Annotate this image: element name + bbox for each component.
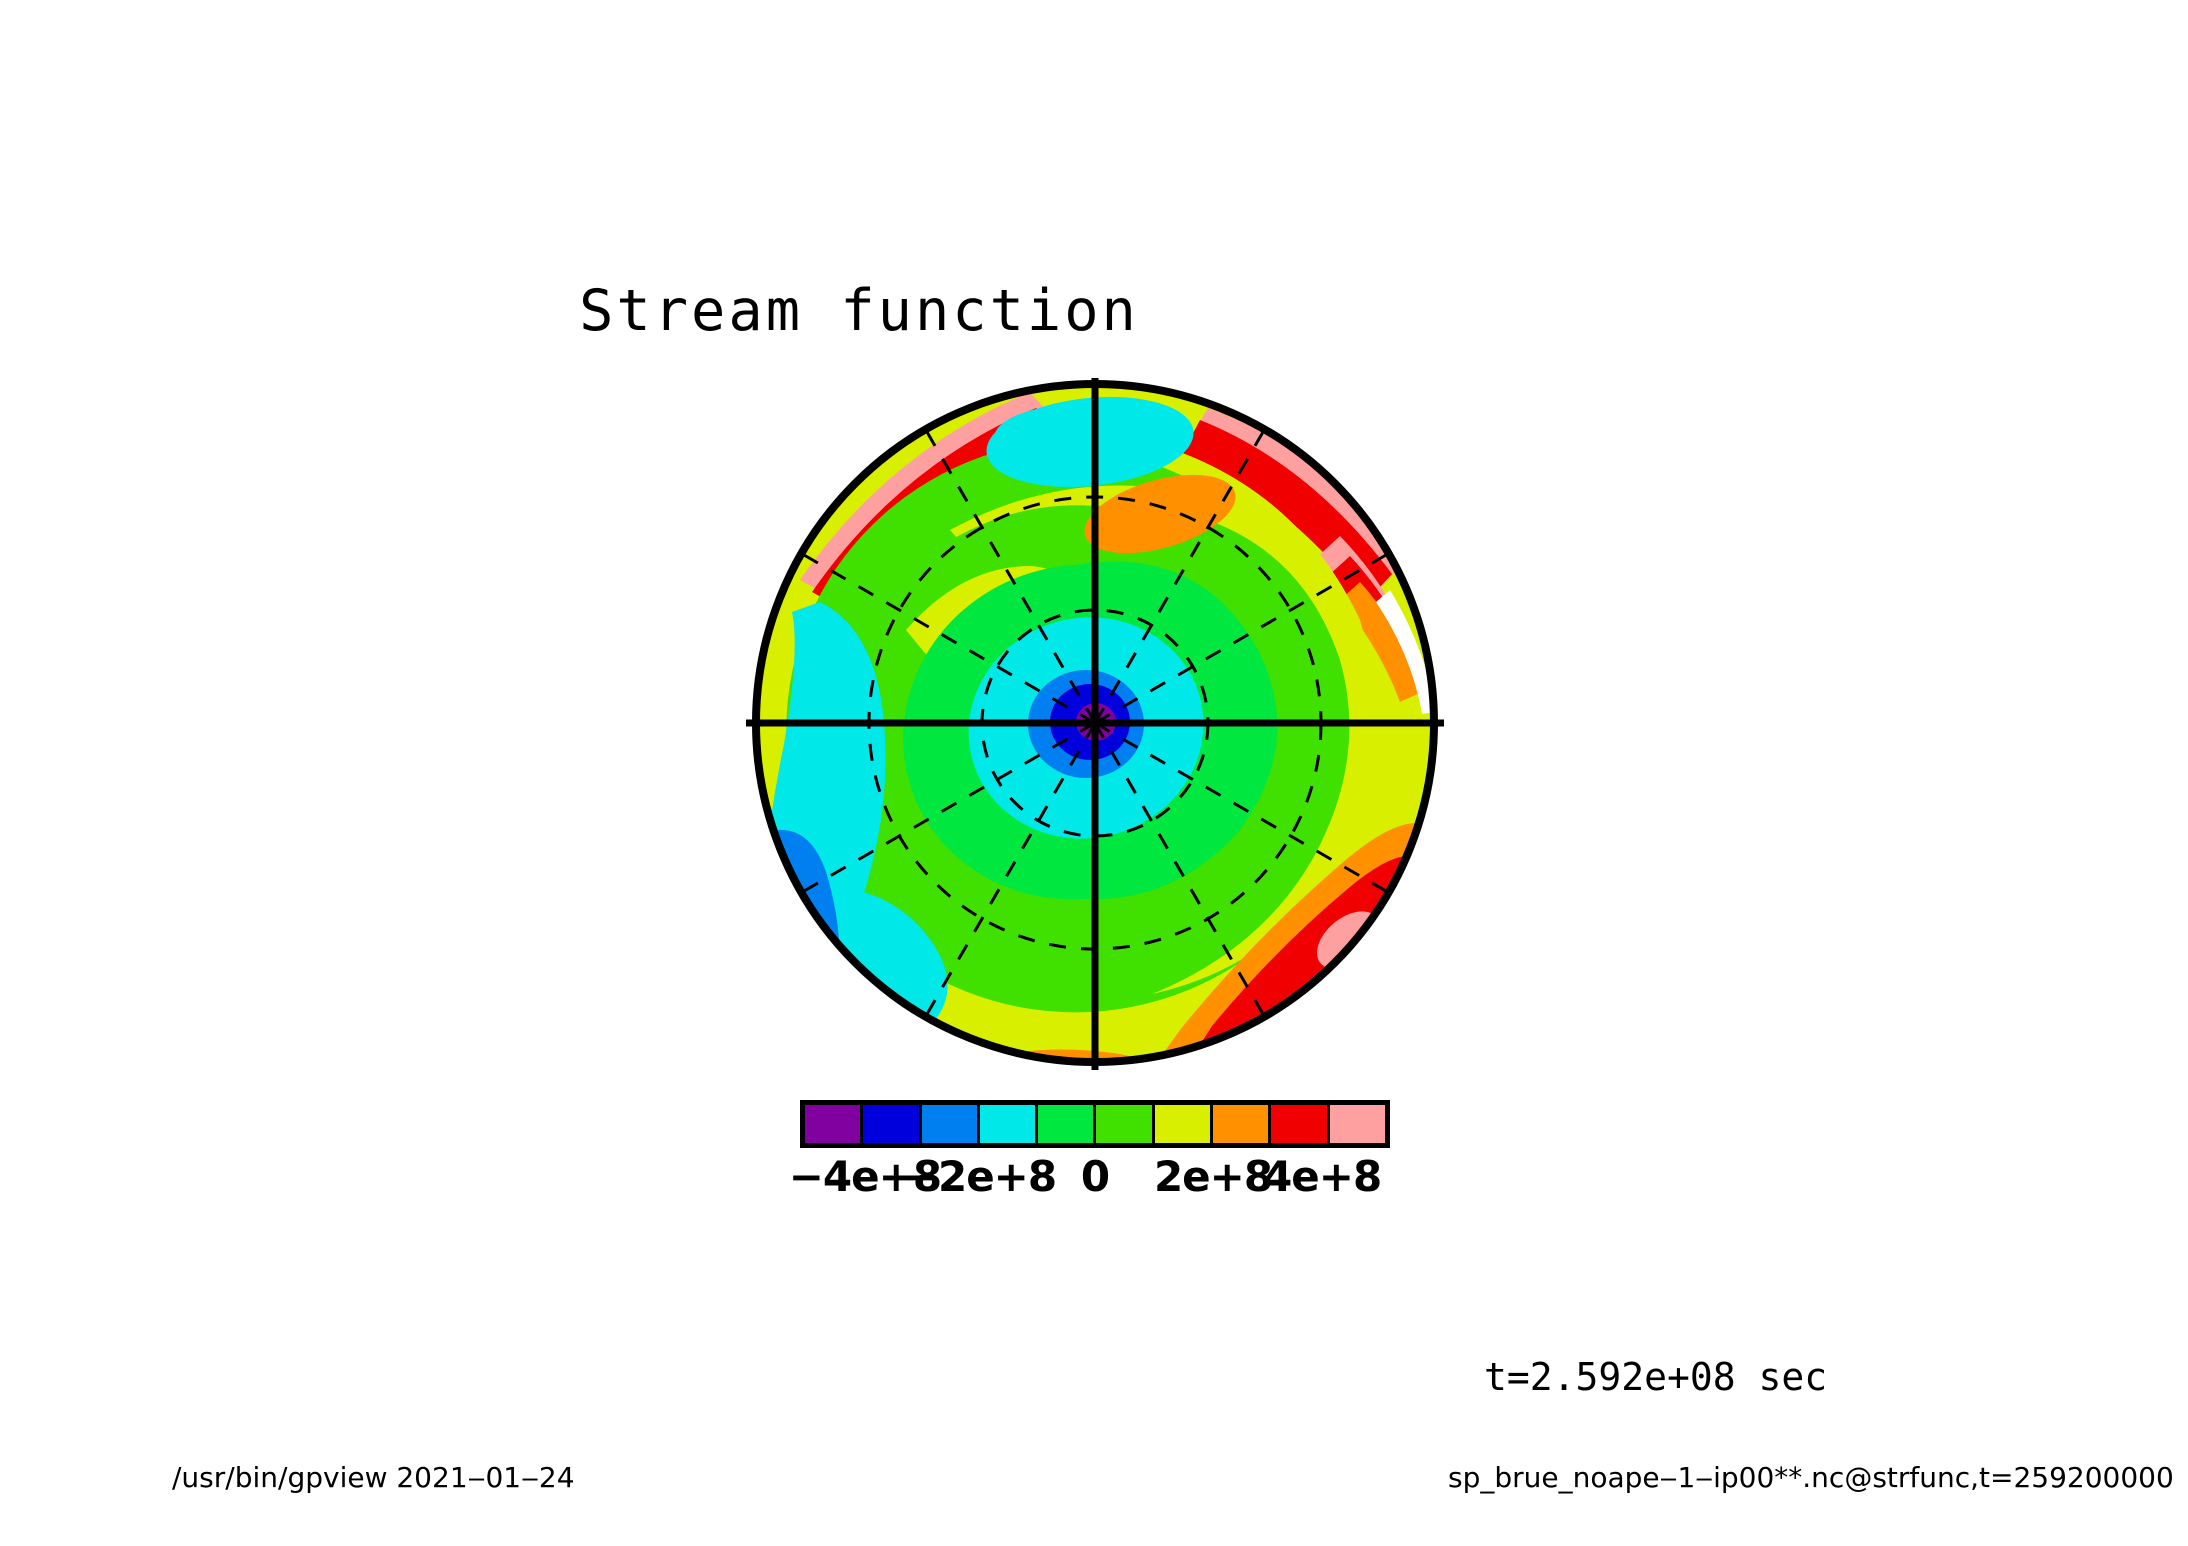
colorbar-cell-cyan — [980, 1105, 1038, 1143]
colorbar-tick: 0 — [1081, 1152, 1109, 1201]
colorbar-cell-orange — [1213, 1105, 1271, 1143]
polar-stereographic-plot — [700, 330, 1500, 1130]
colorbar-cell-purple — [805, 1105, 863, 1143]
colorbar-cell-blue — [863, 1105, 921, 1143]
colorbar-cell-azure — [922, 1105, 980, 1143]
colorbar[interactable] — [800, 1100, 1390, 1148]
time-annotation: t=2.592e+08 sec — [1484, 1355, 1827, 1399]
colorbar-tick: 4e+8 — [1263, 1152, 1381, 1201]
colorbar-cell-red — [1271, 1105, 1329, 1143]
colorbar-cell-green — [1096, 1105, 1154, 1143]
colorbar-cell-pink — [1330, 1105, 1385, 1143]
figure-canvas: Stream function — [0, 0, 2188, 1546]
footer-dataset: sp_brue_noape‒1‒ip00**.nc@strfunc,t=2592… — [1448, 1461, 2174, 1494]
polar-map-panel — [700, 330, 1500, 1130]
colorbar-cell-spring-green — [1038, 1105, 1096, 1143]
principal-axes-cross — [746, 378, 1444, 1070]
colorbar-cell-yellow — [1155, 1105, 1213, 1143]
colorbar-tick: −2e+8 — [904, 1152, 1056, 1201]
colorbar-tick-labels: −4e+8−2e+802e+84e+8 — [800, 1152, 1390, 1212]
colorbar-tick: 2e+8 — [1154, 1152, 1272, 1201]
footer-command: /usr/bin/gpview 2021‒01‒24 — [172, 1461, 575, 1494]
